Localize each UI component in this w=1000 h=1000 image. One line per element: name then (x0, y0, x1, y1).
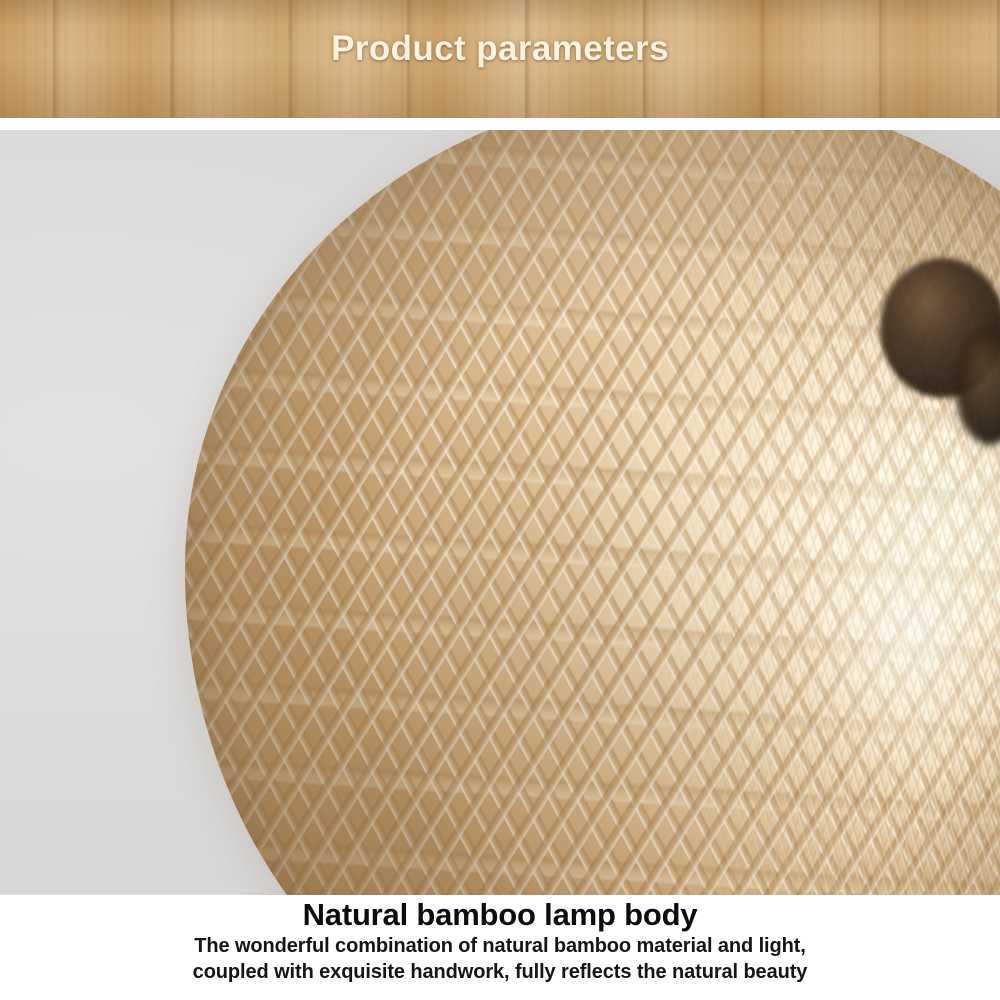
lamp-edge-vignette (185, 130, 1000, 895)
banner-title: Product parameters (0, 0, 1000, 118)
bamboo-pendant-lamp (185, 130, 1000, 895)
caption-line-2: coupled with exquisite handwork, fully r… (0, 959, 1000, 985)
wood-banner-header: Product parameters (0, 0, 1000, 118)
product-photo (0, 130, 1000, 895)
product-detail-page: Product parameters Natural bamboo lamp b… (0, 0, 1000, 1000)
header-photo-divider (0, 118, 1000, 130)
caption-title: Natural bamboo lamp body (0, 895, 1000, 933)
caption-line-1: The wonderful combination of natural bam… (0, 933, 1000, 959)
caption-block: Natural bamboo lamp body The wonderful c… (0, 895, 1000, 1000)
